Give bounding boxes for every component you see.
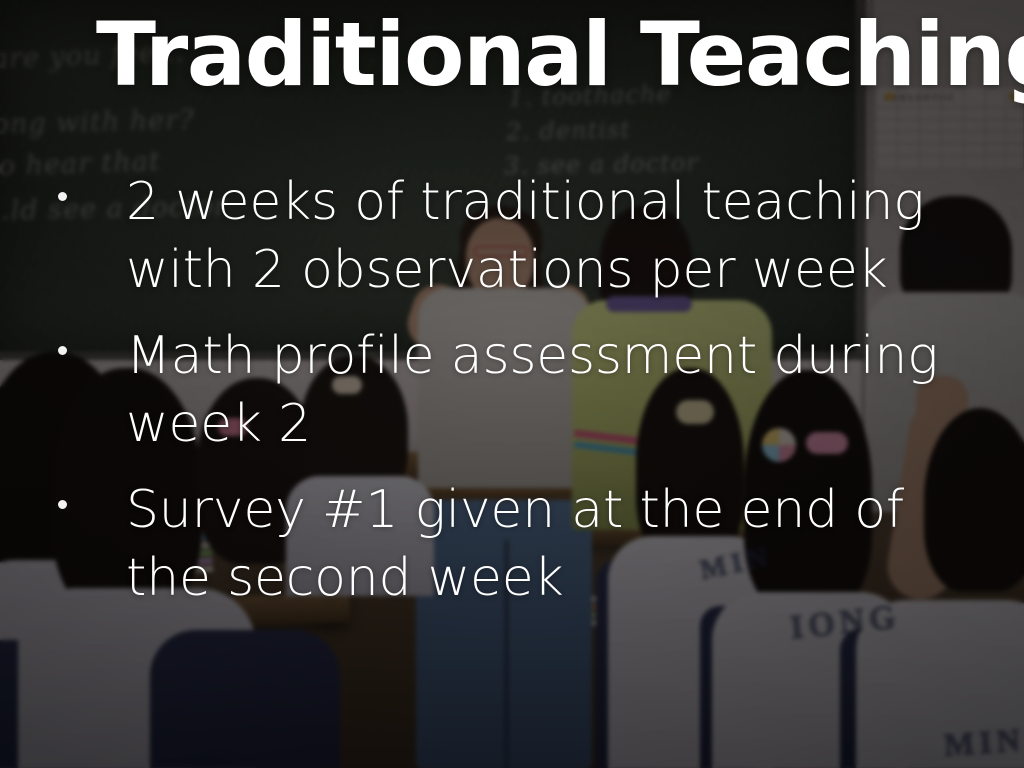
list-item-text: Survey #1 given at the end of the second… — [126, 476, 996, 612]
bullet-list: 2 weeks of traditional teaching with 2 o… — [46, 168, 996, 630]
bullet-point-icon — [58, 192, 67, 201]
bullet-point-icon — [58, 500, 67, 509]
list-item-text: 2 weeks of traditional teaching with 2 o… — [126, 168, 996, 304]
bullet-point-icon — [58, 346, 67, 355]
list-item: Math profile assessment during week 2 — [46, 322, 996, 458]
presentation-slide: are you fee... ...ong with her? ...o hea… — [0, 0, 1024, 768]
list-item-text: Math profile assessment during week 2 — [126, 322, 996, 458]
list-item: Survey #1 given at the end of the second… — [46, 476, 996, 612]
slide-content: Traditional Teaching 2 weeks of traditio… — [0, 0, 1024, 768]
list-item: 2 weeks of traditional teaching with 2 o… — [46, 168, 996, 304]
page-title: Traditional Teaching — [96, 8, 976, 101]
